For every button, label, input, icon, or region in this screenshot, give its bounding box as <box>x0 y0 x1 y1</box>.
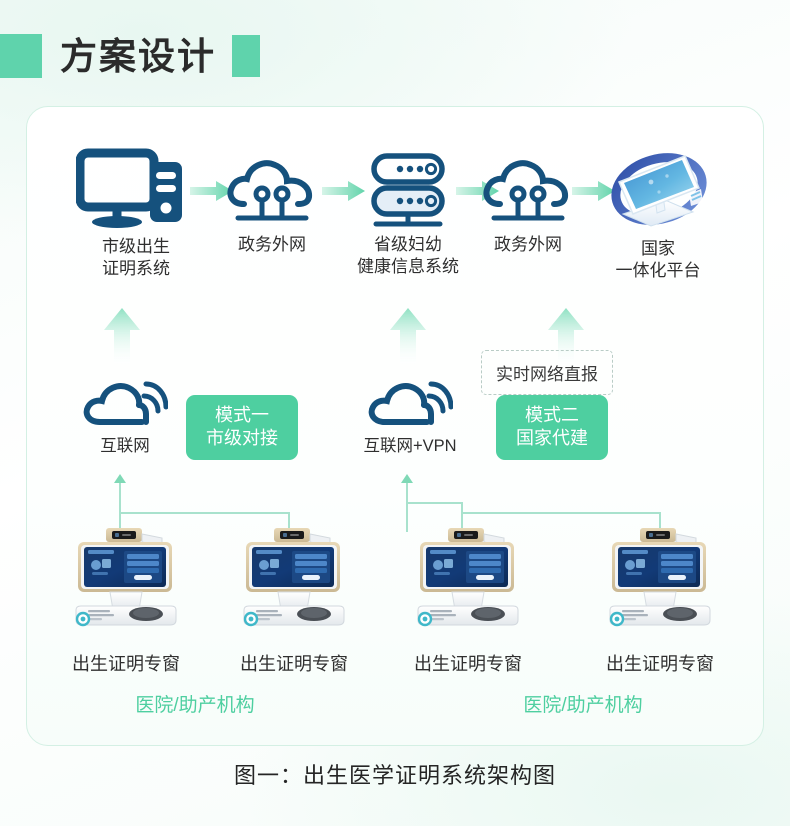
realtime-report-note: 实时网络直报 <box>481 350 613 395</box>
node-label: 政务外网 <box>468 234 588 256</box>
kiosk-caption-3: 出生证明专窗 <box>393 650 543 676</box>
node-label: 省级妇幼 健康信息系统 <box>338 234 478 278</box>
node-label: 国家 一体化平台 <box>588 238 728 282</box>
page-header: 方案设计 <box>0 26 790 86</box>
mode-badge-two[interactable]: 模式二 国家代建 <box>496 395 608 460</box>
cloud-network-icon <box>212 150 332 228</box>
upward-flow-arrow-icon <box>102 308 142 368</box>
desktop-computer-icon <box>66 148 206 230</box>
connector-line <box>406 502 462 504</box>
node-label: 市级出生 证明系统 <box>66 236 206 280</box>
page-title: 方案设计 <box>60 38 216 75</box>
header-accent-block-left <box>0 34 42 78</box>
node-label: 互联网+VPN <box>348 436 472 457</box>
node-internet: 互联网 <box>70 378 180 457</box>
connector-line <box>119 512 289 514</box>
wifi-cloud-icon <box>348 378 472 430</box>
mode-badge-one[interactable]: 模式一 市级对接 <box>186 395 298 460</box>
org-label-2: 医院/助产机构 <box>473 690 693 717</box>
node-national-platform: 国家 一体化平台 <box>588 142 728 282</box>
connector-line <box>461 512 660 514</box>
node-label: 互联网 <box>70 436 180 457</box>
node-government-network-2: 政务外网 <box>468 150 588 256</box>
kiosk-2[interactable] <box>234 528 354 628</box>
kiosk-caption-1: 出生证明专窗 <box>51 650 201 676</box>
figure-caption: 图一：出生医学证明系统架构图 <box>0 758 790 790</box>
node-government-network-1: 政务外网 <box>212 150 332 256</box>
node-provincial-health-system: 省级妇幼 健康信息系统 <box>338 150 478 278</box>
cloud-network-icon <box>468 150 588 228</box>
header-accent-block-right <box>232 35 260 77</box>
upward-flow-arrow-icon <box>388 308 428 368</box>
connector-arrow-icon <box>401 474 413 483</box>
connector-line <box>119 482 121 532</box>
kiosk-1[interactable] <box>66 528 186 628</box>
wifi-cloud-icon <box>70 378 180 430</box>
national-platform-icon <box>588 142 728 232</box>
kiosk-4[interactable] <box>600 528 720 628</box>
node-label: 政务外网 <box>212 234 332 256</box>
org-label-1: 医院/助产机构 <box>85 690 305 717</box>
kiosk-3[interactable] <box>408 528 528 628</box>
connector-arrow-icon <box>114 474 126 483</box>
kiosk-caption-2: 出生证明专窗 <box>219 650 369 676</box>
node-internet-vpn: 互联网+VPN <box>348 378 472 457</box>
connector-line <box>406 482 408 532</box>
node-city-certificate-system: 市级出生 证明系统 <box>66 148 206 280</box>
kiosk-caption-4: 出生证明专窗 <box>585 650 735 676</box>
